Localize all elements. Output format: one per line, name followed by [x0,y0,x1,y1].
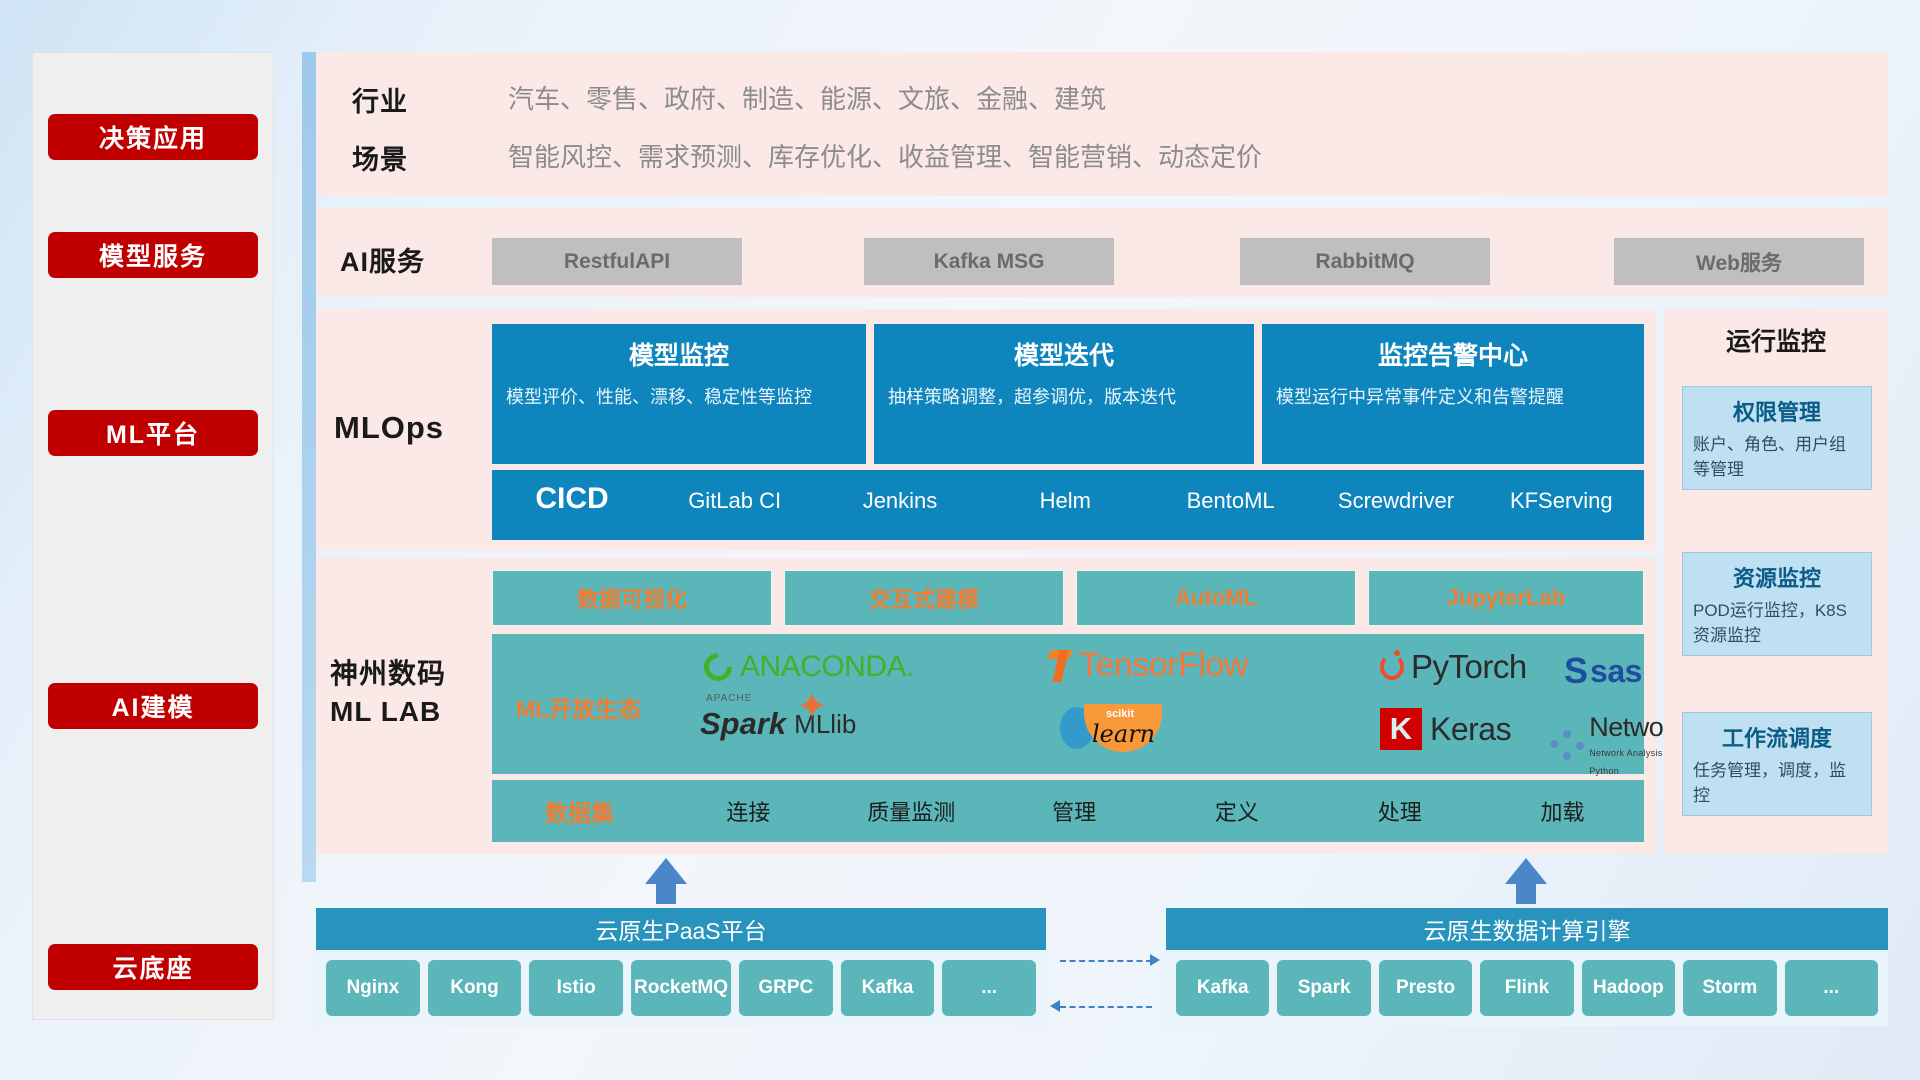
pytorch-flame-icon [1380,654,1404,680]
architecture-diagram: 决策应用 模型服务 ML平台 AI建模 云底座 行业 汽车、零售、政府、制造、能… [0,0,1920,1080]
ml-ecosystem-box: ML开放生态 ANACONDA. TensorFlow PyTorch S sa… [492,634,1644,774]
spark-star-icon: ✦ [796,684,828,729]
ml-lab-label-line1: 神州数码 [330,655,446,693]
dashed-arrow-left-head-icon [1050,1000,1060,1012]
dashed-arrow-right [1060,960,1152,962]
panel-card-title: 工作流调度 [1693,721,1861,753]
panel-card-resource-monitoring[interactable]: 资源监控 POD运行监控，K8S资源监控 [1682,552,1872,656]
data-engine-chip-row: Kafka Spark Presto Flink Hadoop Storm ..… [1166,950,1888,1026]
panel-card-workflow-scheduling[interactable]: 工作流调度 任务管理，调度，监控 [1682,712,1872,816]
lab-tab-data-visualization[interactable]: 数据可视化 [492,570,772,626]
runtime-monitoring-title: 运行监控 [1664,322,1888,358]
service-chip-label: RestfulAPI [564,250,670,274]
industry-value: 汽车、零售、政府、制造、能源、文旅、金融、建筑 [508,79,1106,116]
lab-tab-label: AutoML [1175,585,1257,611]
panel-card-permission-management[interactable]: 权限管理 账户、角色、用户组等管理 [1682,386,1872,490]
scikit-learn-logo: scikit learn [1060,704,1162,752]
lab-tab-label: JupyterLab [1447,585,1566,611]
scenario-value: 智能风控、需求预测、库存优化、收益管理、智能营销、动态定价 [508,137,1262,174]
mlops-card-alert-center[interactable]: 监控告警中心 模型运行中异常事件定义和告警提醒 [1262,324,1644,464]
cicd-bar: CICD GitLab CI Jenkins Helm BentoML Scre… [492,470,1644,540]
panel-card-title: 权限管理 [1693,395,1861,427]
data-engine-group: 云原生数据计算引擎 Kafka Spark Presto Flink Hadoo… [1166,908,1888,1026]
ml-lab-label-line2: ML LAB [330,693,446,731]
lab-tab-jupyterlab[interactable]: JupyterLab [1368,570,1644,626]
card-title: 模型迭代 [888,336,1240,372]
panel-card-body: 账户、角色、用户组等管理 [1693,433,1861,482]
service-chip-restfulapi[interactable]: RestfulAPI [492,238,742,285]
stage-label: 决策应用 [99,119,207,155]
ai-service-label: AI服务 [340,240,425,279]
sas-logo: S sas [1564,650,1642,692]
stage-chip-model-service[interactable]: 模型服务 [48,232,258,278]
anaconda-logo: ANACONDA. [704,650,914,684]
engine-chip-flink[interactable]: Flink [1480,960,1573,1016]
service-chip-label: Kafka MSG [934,250,1045,274]
stage-rail [32,52,274,1020]
engine-chip-kafka[interactable]: Kafka [1176,960,1269,1016]
dataset-item-quality-monitoring[interactable]: 质量监测 [830,795,993,827]
arrow-up-engine-icon [1505,858,1547,884]
card-title: 监控告警中心 [1276,336,1630,372]
decision-apps-band [316,52,1888,196]
paas-chip-istio[interactable]: Istio [529,960,623,1016]
keras-logo: K Keras [1380,708,1511,750]
service-chip-web-service[interactable]: Web服务 [1614,238,1864,285]
service-chip-label: RabbitMQ [1315,250,1414,274]
dataset-item-process[interactable]: 处理 [1318,795,1481,827]
engine-chip-storm[interactable]: Storm [1683,960,1776,1016]
cicd-item-bentoml[interactable]: BentoML [1148,470,1313,516]
scenario-label: 场景 [352,138,408,177]
tensorflow-mark-icon [1048,650,1072,682]
engine-chip-more[interactable]: ... [1785,960,1878,1016]
keras-logo-text: Keras [1430,711,1511,748]
dataset-row: 数据集 连接 质量监测 管理 定义 处理 加载 [492,780,1644,842]
panel-spine [302,52,316,882]
arrow-up-paas-icon [645,858,687,884]
cicd-item-jenkins[interactable]: Jenkins [817,470,982,516]
mlops-card-model-iteration[interactable]: 模型迭代 抽样策略调整，超参调优，版本迭代 [874,324,1254,464]
stage-chip-ai-modeling[interactable]: AI建模 [48,683,258,729]
lab-tab-automl[interactable]: AutoML [1076,570,1356,626]
keras-mark-icon: K [1380,708,1422,750]
industry-label: 行业 [352,80,408,119]
paas-chip-kafka[interactable]: Kafka [841,960,935,1016]
anaconda-ring-icon [698,647,738,687]
card-desc: 模型运行中异常事件定义和告警提醒 [1276,384,1630,410]
data-engine-title: 云原生数据计算引擎 [1166,908,1888,950]
lab-tab-label: 交互式建模 [869,582,979,614]
card-desc: 抽样策略调整，超参调优，版本迭代 [888,384,1240,410]
tensorflow-logo-text: TensorFlow [1079,646,1248,685]
card-title: 模型监控 [506,336,852,372]
keras-letter: K [1390,711,1412,747]
paas-chip-row: Nginx Kong Istio RocketMQ GRPC Kafka ... [316,950,1046,1026]
stage-label: 模型服务 [99,237,207,273]
arrow-stem-engine-icon [1516,884,1536,904]
dashed-arrow-right-head-icon [1150,954,1160,966]
networkx-tagline: Network Analysis in Python [1589,748,1673,776]
engine-chip-hadoop[interactable]: Hadoop [1582,960,1675,1016]
cicd-item-screwdriver[interactable]: Screwdriver [1313,470,1478,516]
lab-tab-interactive-modeling[interactable]: 交互式建模 [784,570,1064,626]
ml-ecosystem-label: ML开放生态 [516,690,641,724]
cicd-title: CICD [492,470,652,516]
dataset-label: 数据集 [492,794,667,828]
paas-chip-kong[interactable]: Kong [428,960,522,1016]
scikit-top-text: scikit [1106,708,1134,720]
card-desc: 模型评价、性能、漂移、稳定性等监控 [506,384,852,410]
cicd-item-helm[interactable]: Helm [983,470,1148,516]
service-chip-label: Web服务 [1696,247,1782,277]
stage-chip-decision-apps[interactable]: 决策应用 [48,114,258,160]
paas-chip-nginx[interactable]: Nginx [326,960,420,1016]
paas-chip-more[interactable]: ... [942,960,1036,1016]
paas-title: 云原生PaaS平台 [316,908,1046,950]
panel-card-title: 资源监控 [1693,561,1861,593]
anaconda-logo-text: ANACONDA. [740,650,914,684]
sas-logo-text: sas [1590,653,1642,690]
stage-chip-ml-platform[interactable]: ML平台 [48,410,258,456]
paas-chip-rocketmq[interactable]: RocketMQ [631,960,731,1016]
paas-chip-grpc[interactable]: GRPC [739,960,833,1016]
panel-card-body: POD运行监控，K8S资源监控 [1693,599,1861,648]
engine-chip-spark[interactable]: Spark [1277,960,1370,1016]
mlops-card-model-monitoring[interactable]: 模型监控 模型评价、性能、漂移、稳定性等监控 [492,324,866,464]
dataset-item-define[interactable]: 定义 [1155,795,1318,827]
scikit-badge-icon: scikit learn [1084,704,1162,752]
spark-logo-text: Spark [700,706,786,742]
stage-chip-cloud-foundation[interactable]: 云底座 [48,944,258,990]
dataset-item-connect[interactable]: 连接 [667,795,830,827]
pytorch-logo-text: PyTorch [1411,648,1527,686]
stage-label: 云底座 [112,949,193,985]
stage-label: ML平台 [106,415,200,451]
cicd-item-kfserving[interactable]: KFServing [1479,470,1644,516]
arrow-stem-paas-icon [656,884,676,904]
service-chip-rabbitmq[interactable]: RabbitMQ [1240,238,1490,285]
pytorch-logo: PyTorch [1380,648,1527,686]
service-chip-kafka-msg[interactable]: Kafka MSG [864,238,1114,285]
mlops-label: MLOps [334,410,444,446]
cicd-item-gitlab-ci[interactable]: GitLab CI [652,470,817,516]
panel-card-body: 任务管理，调度，监控 [1693,759,1861,808]
lab-tab-label: 数据可视化 [577,582,687,614]
sas-swirl-icon: S [1564,650,1588,692]
tensorflow-logo: TensorFlow [1048,646,1248,685]
dataset-item-manage[interactable]: 管理 [993,795,1156,827]
stage-label: AI建模 [111,688,194,724]
engine-chip-presto[interactable]: Presto [1379,960,1472,1016]
dashed-arrow-left [1060,1006,1152,1008]
apache-label: APACHE [706,693,752,704]
ml-lab-label: 神州数码 ML LAB [330,655,446,731]
dataset-item-load[interactable]: 加载 [1481,795,1644,827]
networkx-graph-icon [1550,730,1583,762]
scikit-bottom-text: learn [1092,720,1155,748]
paas-group: 云原生PaaS平台 Nginx Kong Istio RocketMQ GRPC… [316,908,1046,1026]
